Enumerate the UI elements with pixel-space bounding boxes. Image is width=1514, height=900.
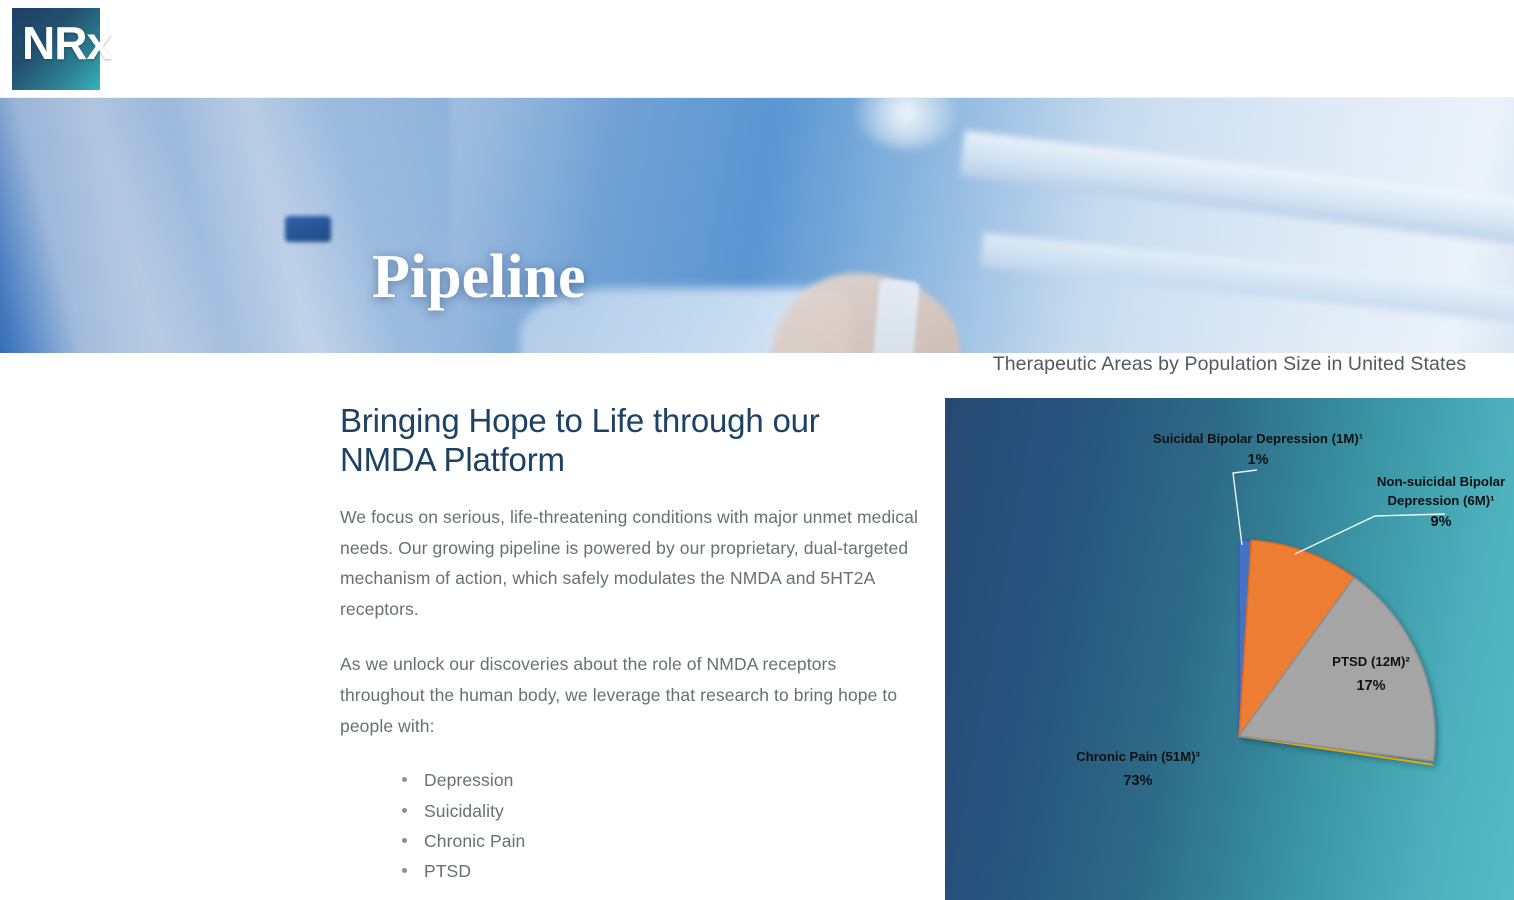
site-header: NRx — [0, 0, 1514, 98]
pie-label-ptsd-name: PTSD (12M)² — [1332, 654, 1410, 669]
pie-label-suicidal-name: Suicidal Bipolar Depression (1M)¹ — [1153, 431, 1363, 446]
pie-label-nonsuicidal-bipolar: Non-suicidal Bipolar Depression (6M)¹ 9% — [1377, 474, 1505, 530]
section-heading: Bringing Hope to Life through our NMDA P… — [340, 402, 920, 480]
list-item: Chronic Pain — [402, 826, 920, 856]
page-title: Pipeline — [372, 246, 586, 308]
pie-label-ptsd-pct: 17% — [1356, 678, 1385, 694]
list-item: Depression — [402, 765, 920, 795]
pie-label-chronic-name: Chronic Pain (51M)³ — [1076, 749, 1200, 764]
pie-label-nonsuicidal-line1: Non-suicidal Bipolar — [1377, 474, 1505, 489]
pie-label-chronic-pct: 73% — [1123, 773, 1152, 789]
intro-paragraph-2: As we unlock our discoveries about the r… — [340, 649, 920, 741]
pie-chart-container: Suicidal Bipolar Depression (1M)¹ 1% Non… — [945, 398, 1514, 900]
pie-label-nonsuicidal-line2: Depression (6M)¹ — [1388, 493, 1495, 508]
main-content: Bringing Hope to Life through our NMDA P… — [0, 353, 1514, 900]
leader-line-suicidal — [1233, 470, 1257, 545]
pie-label-suicidal-pct: 1% — [1248, 452, 1269, 468]
intro-paragraph-1: We focus on serious, life-threatening co… — [340, 502, 920, 625]
pie-chart: Suicidal Bipolar Depression (1M)¹ 1% Non… — [945, 398, 1514, 900]
pie-label-chronic-pain: Chronic Pain (51M)³ 73% — [1076, 749, 1200, 789]
pie-label-nonsuicidal-pct: 9% — [1431, 514, 1452, 530]
text-column: Bringing Hope to Life through our NMDA P… — [340, 402, 920, 900]
pie-label-suicidal-bipolar: Suicidal Bipolar Depression (1M)¹ 1% — [1153, 431, 1363, 468]
chart-title: Therapeutic Areas by Population Size in … — [945, 353, 1514, 376]
list-item: PTSD — [402, 856, 920, 886]
leader-line-nonsuicidal — [1295, 514, 1445, 554]
chart-panel: Therapeutic Areas by Population Size in … — [945, 248, 1514, 900]
list-item: Suicidality — [402, 796, 920, 826]
pie-slices — [1239, 540, 1435, 765]
condition-list: Depression Suicidality Chronic Pain PTSD — [402, 765, 920, 885]
logo-text[interactable]: NRx — [22, 20, 111, 66]
